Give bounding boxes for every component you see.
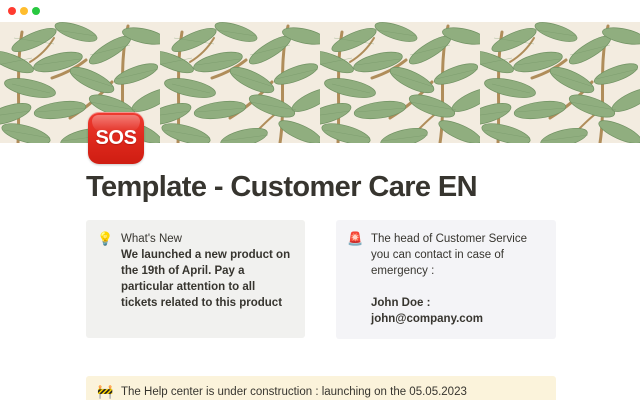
- lightbulb-icon: 💡: [97, 231, 112, 247]
- app-window: SOS Template - Customer Care EN 💡 What's…: [0, 0, 640, 400]
- callout-help-center-notice[interactable]: 🚧 The Help center is under construction …: [86, 376, 556, 400]
- close-button[interactable]: [8, 7, 16, 15]
- window-traffic-lights: [8, 7, 40, 15]
- minimize-button[interactable]: [20, 7, 28, 15]
- callout-whats-new-text: We launched a new product on the 19th of…: [121, 247, 293, 311]
- callout-row: 💡 What's New We launched a new product o…: [86, 220, 556, 339]
- callout-whats-new-body: What's New We launched a new product on …: [121, 231, 293, 311]
- sos-icon-label: SOS: [95, 127, 136, 150]
- callout-emergency-body: The head of Customer Service you can con…: [371, 231, 544, 327]
- help-center-notice-text: The Help center is under construction : …: [121, 384, 467, 400]
- siren-icon: 🚨: [347, 231, 362, 247]
- callout-spacer: [371, 279, 544, 295]
- callout-emergency-intro: The head of Customer Service you can con…: [371, 231, 544, 279]
- maximize-button[interactable]: [32, 7, 40, 15]
- callout-whats-new[interactable]: 💡 What's New We launched a new product o…: [86, 220, 305, 338]
- page-title[interactable]: Template - Customer Care EN: [86, 170, 556, 204]
- callout-whats-new-heading: What's New: [121, 231, 293, 247]
- callout-emergency-contact-value: John Doe : john@company.com: [371, 295, 544, 327]
- window-titlebar: [0, 0, 640, 22]
- callout-emergency-contact[interactable]: 🚨 The head of Customer Service you can c…: [336, 220, 556, 339]
- page-icon[interactable]: SOS: [88, 112, 144, 164]
- page-content: Template - Customer Care EN 💡 What's New…: [0, 170, 640, 339]
- sos-emoji-icon: SOS: [88, 112, 144, 164]
- construction-icon: 🚧: [97, 384, 112, 400]
